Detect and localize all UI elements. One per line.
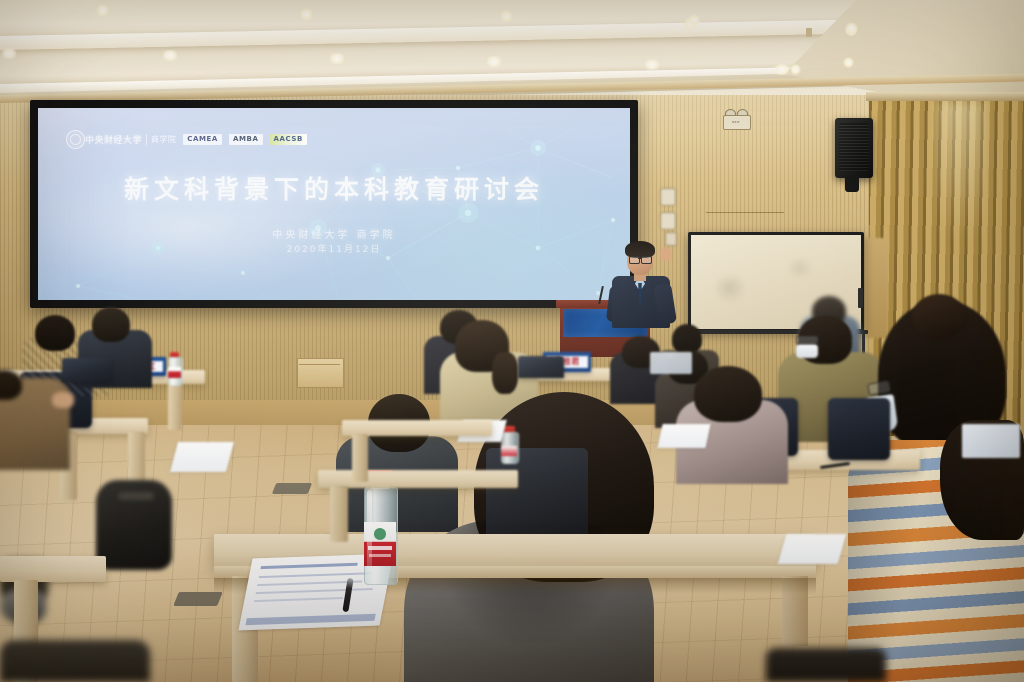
ceiling-light (688, 14, 700, 26)
ceiling-light (96, 4, 109, 17)
table-leg (352, 434, 368, 482)
chair-back (828, 398, 890, 460)
speaker-grille (839, 123, 869, 171)
wall-sensor-upper (660, 188, 676, 206)
wall-speaker (835, 118, 873, 178)
attendee-silhouette (0, 640, 150, 682)
wall-sensor-lower (665, 232, 677, 246)
paper-header-line (260, 563, 357, 569)
speaker-raised-hand (660, 248, 671, 261)
handout-paper (170, 442, 234, 472)
screen-vignette (38, 108, 630, 300)
ceiling-light (775, 64, 789, 75)
ceiling-light (645, 59, 659, 70)
chair-silhouette (766, 648, 886, 682)
face-mask (796, 344, 818, 358)
handout-paper (657, 424, 710, 448)
ceiling-light (500, 10, 513, 23)
curtain-window-light (938, 100, 984, 240)
table-row-middle (318, 470, 518, 488)
backpack-strap (118, 492, 154, 500)
attendee-head (35, 315, 75, 351)
table-leg (330, 486, 348, 542)
curtain-rail (866, 92, 1024, 101)
eyeglasses (796, 336, 818, 344)
ceiling-light (300, 8, 313, 21)
ceiling-light (2, 48, 16, 59)
table-row-left-foreground (0, 556, 106, 582)
attendee-hair-strand (492, 352, 518, 394)
floor-marker (173, 592, 223, 606)
laptop-screen[interactable] (518, 356, 564, 378)
handout-paper (778, 534, 847, 564)
bottle-label-logo (374, 528, 386, 540)
table-leg (168, 382, 182, 430)
sprinkler-head (806, 28, 812, 37)
emergency-light-label: EXIT (724, 120, 748, 124)
hair-bun (912, 294, 966, 340)
projection-screen[interactable]: 中央财经大学 商学院 CAMEA AMBA AACSB 新文科背景下的本科教育研… (38, 108, 630, 300)
ceiling-light (487, 56, 501, 67)
speaker-mount (845, 176, 859, 192)
whiteboard-smudge (713, 273, 747, 303)
lecture-hall-photo: 中央财经大学 商学院 CAMEA AMBA AACSB 新文科背景下的本科教育研… (0, 0, 1024, 682)
speaker-glasses-bridge (638, 258, 641, 259)
attendee-hand (52, 392, 74, 408)
ceiling-light (845, 22, 858, 35)
ceiling-light (330, 53, 344, 64)
laptop-screen-lit[interactable] (962, 424, 1020, 458)
bottle-highlight (367, 490, 372, 576)
bottle-label-text (369, 554, 391, 557)
whiteboard-smudge (787, 257, 813, 279)
whiteboard-side-panel (866, 238, 888, 338)
ceiling-light (163, 50, 177, 61)
attendee-head (92, 307, 130, 342)
paper-line (259, 572, 372, 578)
paper-line (256, 588, 373, 594)
ceiling-light (790, 64, 801, 75)
ceiling-light (843, 57, 854, 68)
bottle-label (501, 446, 517, 456)
projection-screen-frame: 中央财经大学 商学院 CAMEA AMBA AACSB 新文科背景下的本科教育研… (30, 100, 638, 308)
wall-access-panel (297, 358, 344, 388)
wall-sensor-middle (660, 212, 676, 230)
paper-line (254, 597, 343, 602)
speaker-glasses-right-lens (641, 256, 652, 264)
attendee-head (694, 366, 762, 422)
wall-access-panel-seam (299, 364, 340, 365)
laptop-screen[interactable] (62, 358, 112, 382)
whiteboard-control-strip (858, 288, 863, 308)
paper-footer-band (245, 614, 375, 625)
bottle-label (168, 367, 181, 378)
laptop-screen-lit[interactable] (650, 352, 692, 374)
wall-seam-line (706, 212, 784, 213)
floor-marker (272, 483, 312, 494)
